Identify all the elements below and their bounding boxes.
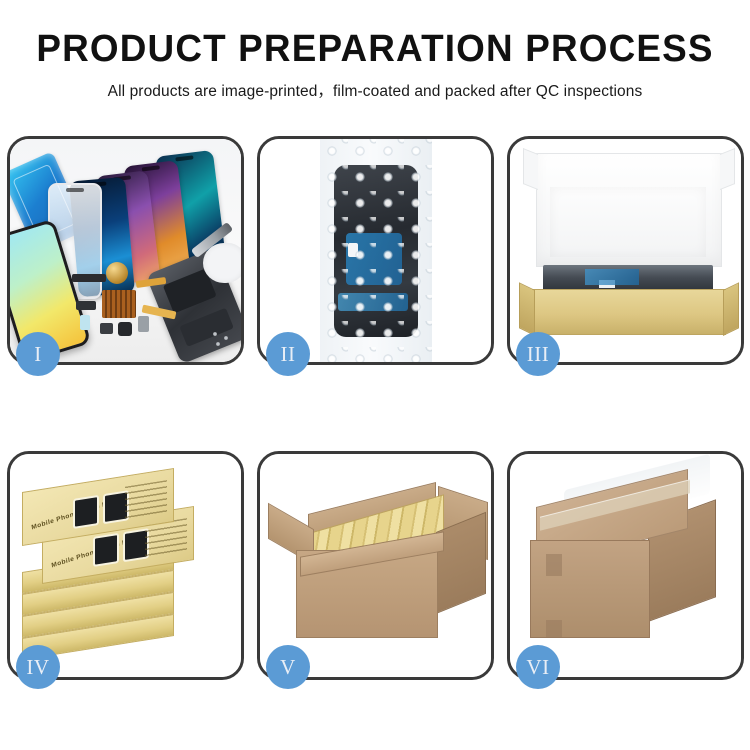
step-2-image: [260, 139, 491, 362]
step-badge-2: II: [266, 332, 310, 376]
box-checklist-b: [125, 480, 167, 521]
hand-icon: [203, 243, 241, 283]
process-step-panel-1[interactable]: I: [7, 136, 244, 365]
phone-parts-scene: [10, 139, 241, 362]
chip-board-icon: [102, 290, 136, 318]
bubble-wrap-scene: [260, 139, 491, 362]
kraft-tray-icon: [532, 289, 726, 335]
step-4-image: Mobile Phone Spare Parts Mobile Phone Sp…: [10, 454, 241, 677]
carton-handle-slot-1: [546, 554, 562, 576]
small-part-1-icon: [76, 301, 96, 310]
step-badge-3: III: [516, 332, 560, 376]
sealed-carton-scene: [510, 454, 741, 677]
process-step-panel-6[interactable]: VI: [507, 451, 744, 680]
small-part-3-icon: [100, 323, 113, 334]
box-screen-image-c: [73, 495, 99, 529]
small-part-5-icon: [138, 316, 149, 332]
screws-icon: [211, 330, 231, 348]
page-subtitle: All products are image-printed，film-coat…: [0, 79, 750, 101]
speaker-module-icon: [106, 262, 128, 284]
parts-label: [599, 280, 615, 288]
small-part-4-icon: [118, 322, 132, 336]
connector-strip-icon: [72, 274, 106, 282]
bubble-texture-overlay: [320, 139, 432, 362]
foam-sheet-icon: [550, 187, 706, 257]
small-part-2-icon: [80, 315, 90, 330]
page-title: PRODUCT PREPARATION PROCESS: [11, 30, 739, 68]
step-6-image: [510, 454, 741, 677]
carton-handle-slot-2: [546, 620, 562, 638]
process-step-panel-4[interactable]: Mobile Phone Spare Parts Mobile Phone Sp…: [7, 451, 244, 680]
step-badge-4: IV: [16, 645, 60, 689]
filled-carton-scene: [260, 454, 491, 677]
process-step-panel-2[interactable]: II: [257, 136, 494, 365]
step-badge-1: I: [16, 332, 60, 376]
step-1-image: [10, 139, 241, 362]
box-screen-image-a: [93, 533, 119, 567]
step-5-image: [260, 454, 491, 677]
page-header: PRODUCT PREPARATION PROCESS All products…: [0, 0, 750, 101]
open-box-scene: [510, 139, 741, 362]
process-step-panel-3[interactable]: III: [507, 136, 744, 365]
step-badge-5: V: [266, 645, 310, 689]
stacked-boxes-scene: Mobile Phone Spare Parts Mobile Phone Sp…: [10, 454, 241, 677]
process-steps-grid: I II: [7, 136, 744, 680]
step-3-image: [510, 139, 741, 362]
step-badge-6: VI: [516, 645, 560, 689]
process-step-panel-5[interactable]: V: [257, 451, 494, 680]
